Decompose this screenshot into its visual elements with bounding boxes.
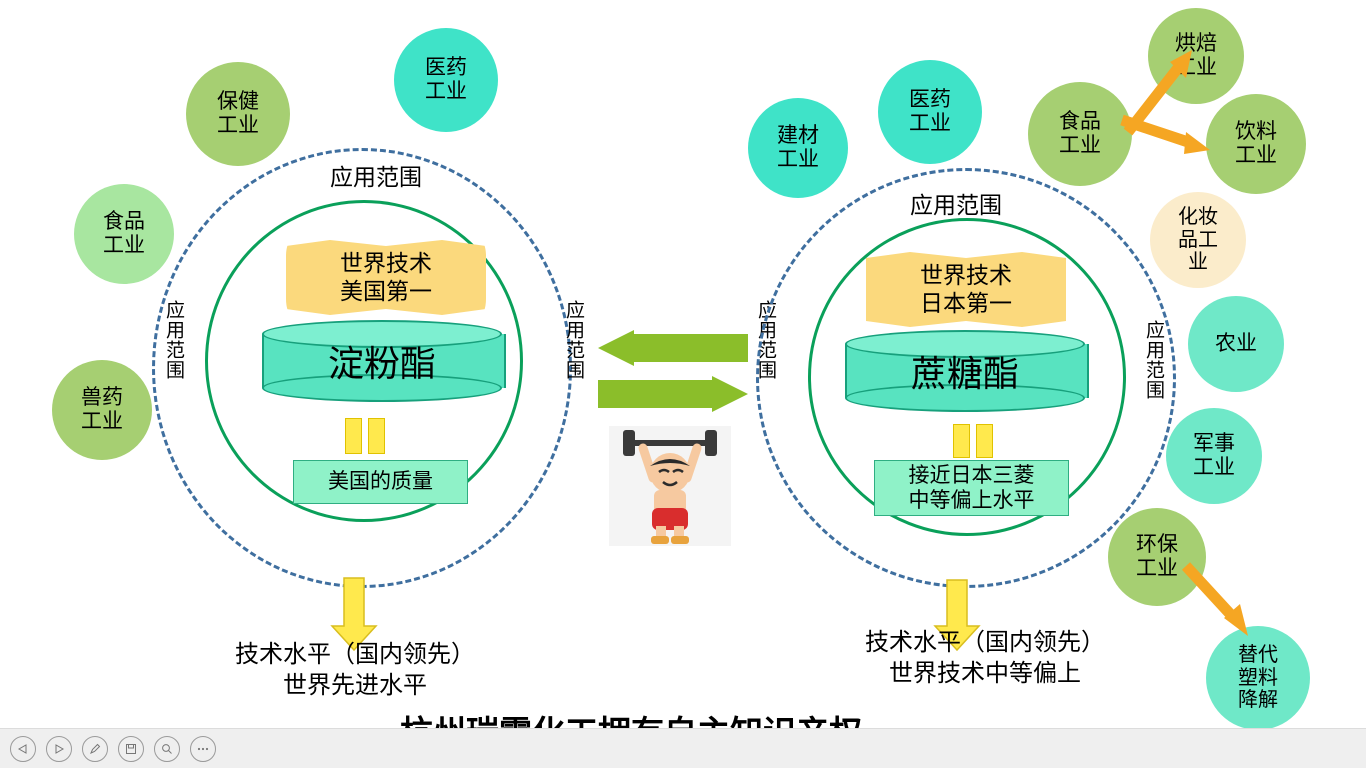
left-scope-label-right-side: 应用范围 bbox=[560, 300, 587, 380]
magnifier-icon bbox=[161, 743, 173, 755]
bubble-label: 食品 工业 bbox=[1059, 110, 1101, 157]
bubble-label: 化妆 品工 业 bbox=[1178, 206, 1218, 273]
orange-arrow-to-yinliao bbox=[1116, 104, 1216, 164]
right-scope-label-top: 应用范围 bbox=[910, 186, 1002, 220]
bubble-nongye: 农业 bbox=[1188, 296, 1284, 392]
bubble-label: 医药 工业 bbox=[425, 56, 467, 103]
left-scope-label-side: 应用范围 bbox=[160, 300, 187, 380]
left-core-cylinder: 淀粉酯 bbox=[262, 320, 502, 402]
orange-arrow-to-tidai bbox=[1180, 560, 1270, 650]
slide-canvas: 应用范围 应用范围 世界技术 美国第一 淀粉酯 美国的质量 技术水平（国内领先）… bbox=[0, 0, 1366, 768]
bubble-baojian-gongye: 保健 工业 bbox=[186, 62, 290, 166]
right-scope-label-right-side: 应用范围 bbox=[1140, 320, 1167, 400]
triangle-right-icon bbox=[54, 744, 64, 754]
left-banner: 世界技术 美国第一 bbox=[286, 240, 486, 315]
bubble-label: 医药 工业 bbox=[909, 88, 951, 135]
right-result-box: 接近日本三菱 中等偏上水平 bbox=[874, 460, 1069, 516]
save-button[interactable] bbox=[118, 736, 144, 762]
bubble-junshi-gongye: 军事 工业 bbox=[1166, 408, 1262, 504]
bubble-label: 环保 工业 bbox=[1136, 533, 1178, 580]
left-footer-text: 技术水平（国内领先） 世界先进水平 bbox=[225, 640, 485, 702]
triangle-left-icon bbox=[18, 744, 28, 754]
bubble-label: 保健 工业 bbox=[217, 90, 259, 137]
right-equals-bar-1 bbox=[953, 424, 970, 458]
previous-button[interactable] bbox=[10, 736, 36, 762]
arrow-left-to-right bbox=[598, 376, 748, 412]
bubble-label: 兽药 工业 bbox=[81, 386, 123, 433]
more-button[interactable] bbox=[190, 736, 216, 762]
bubble-yiyao-gongye-left: 医药 工业 bbox=[394, 28, 498, 132]
weightlifter-illustration bbox=[609, 426, 731, 546]
ellipsis-icon bbox=[196, 746, 210, 752]
right-footer-text: 技术水平（国内领先） 世界技术中等偏上 bbox=[840, 628, 1130, 690]
left-result-box: 美国的质量 bbox=[293, 460, 468, 504]
player-toolbar bbox=[0, 728, 1366, 768]
left-equals-bar-1 bbox=[345, 418, 362, 454]
bubble-jiancai-gongye: 建材 工业 bbox=[748, 98, 848, 198]
left-scope-label-top: 应用范围 bbox=[330, 158, 422, 192]
left-core-label: 淀粉酯 bbox=[262, 320, 502, 402]
pen-button[interactable] bbox=[82, 736, 108, 762]
bubble-shouyao-gongye: 兽药 工业 bbox=[52, 360, 152, 460]
play-button[interactable] bbox=[46, 736, 72, 762]
bubble-label: 替代 塑料 降解 bbox=[1238, 644, 1278, 711]
bubble-label: 农业 bbox=[1215, 332, 1257, 356]
right-core-label: 蔗糖酯 bbox=[845, 330, 1085, 412]
arrow-right-to-left bbox=[598, 330, 748, 366]
bubble-yinliao-gongye: 饮料 工业 bbox=[1206, 94, 1306, 194]
right-core-cylinder: 蔗糖酯 bbox=[845, 330, 1085, 412]
bubble-huazhuangpin-gongye: 化妆 品工 业 bbox=[1150, 192, 1246, 288]
zoom-button[interactable] bbox=[154, 736, 180, 762]
bubble-label: 食品 工业 bbox=[103, 210, 145, 257]
right-equals-bar-2 bbox=[976, 424, 993, 458]
bubble-shipin-gongye-left: 食品 工业 bbox=[74, 184, 174, 284]
left-equals-bar-2 bbox=[368, 418, 385, 454]
right-banner: 世界技术 日本第一 bbox=[866, 252, 1066, 327]
bubble-label: 建材 工业 bbox=[777, 124, 819, 171]
bubble-label: 军事 工业 bbox=[1193, 432, 1235, 479]
bubble-label: 饮料 工业 bbox=[1235, 120, 1277, 167]
pen-icon bbox=[89, 743, 101, 755]
save-icon bbox=[125, 743, 137, 755]
bubble-yiyao-gongye-right: 医药 工业 bbox=[878, 60, 982, 164]
